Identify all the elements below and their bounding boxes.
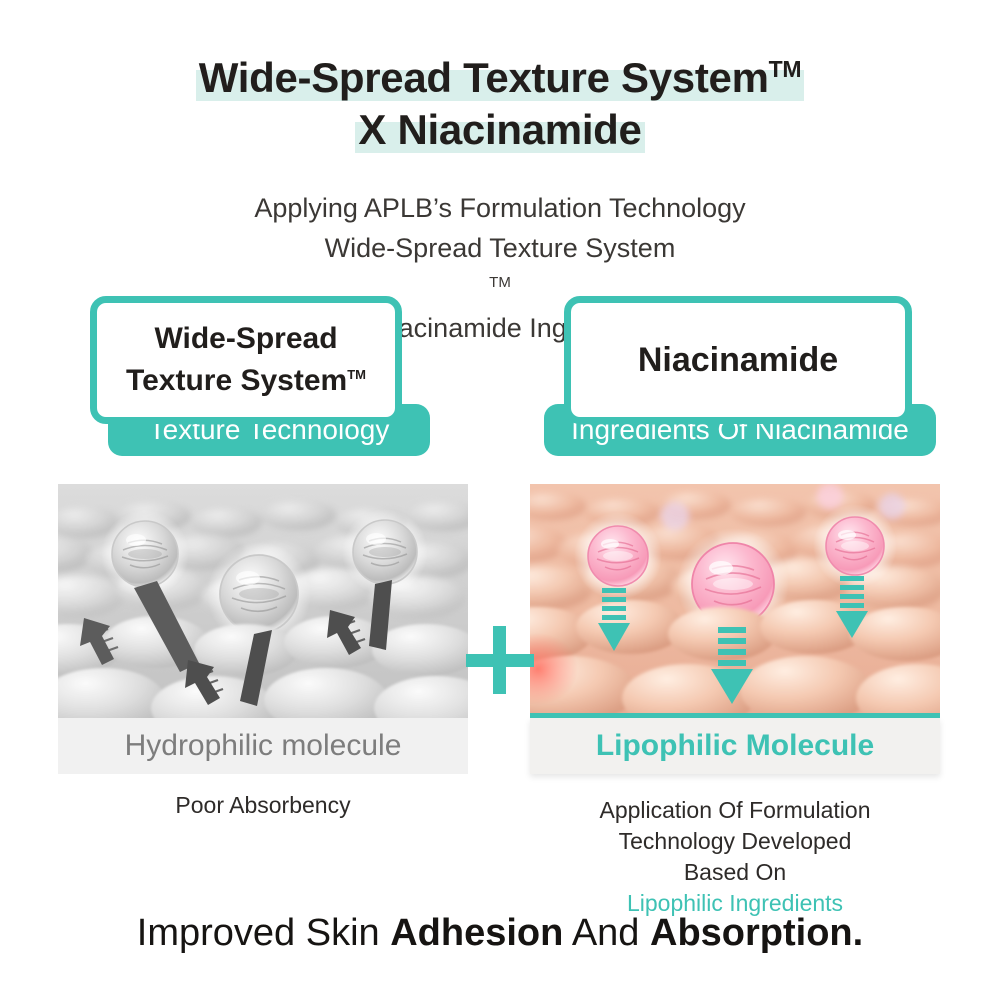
pink-skin-cells-scene xyxy=(530,484,940,718)
footer-part-2: And xyxy=(563,912,650,954)
panel-lipophilic: Lipophilic Molecule xyxy=(530,484,940,774)
lipophilic-sub-line-1: Application Of Formulation xyxy=(530,795,940,826)
title-line-1-text: Wide-Spread Texture System xyxy=(199,54,769,101)
trademark-symbol: TM xyxy=(347,367,366,382)
promo-infographic: Wide-Spread Texture SystemTM X Niacinami… xyxy=(0,0,1000,1000)
panel-hydrophilic: Hydrophilic molecule xyxy=(58,484,468,774)
lipophilic-sub-line-3-a: Based On xyxy=(530,857,940,888)
droplet-right xyxy=(813,504,897,588)
hydrophilic-caption: Hydrophilic molecule xyxy=(125,729,402,763)
formula-cards-row: Wide-Spread Texture SystemTM Texture Tec… xyxy=(0,296,1000,466)
hydrophilic-caption-bar: Hydrophilic molecule xyxy=(58,718,468,774)
title-line-2-text: X Niacinamide xyxy=(355,106,644,153)
footer-statement: Improved Skin Adhesion And Absorption. xyxy=(0,908,1000,958)
footer-part-1: Improved Skin xyxy=(137,912,390,954)
hydrophilic-sub-caption: Poor Absorbency xyxy=(58,790,468,821)
card-niacinamide-box: Niacinamide xyxy=(564,296,912,424)
footer-bold-adhesion: Adhesion xyxy=(390,912,563,954)
card-texture-system-box: Wide-Spread Texture SystemTM xyxy=(90,296,402,424)
trademark-symbol: TM xyxy=(769,56,802,82)
lipophilic-teal-underbar xyxy=(530,713,940,718)
card-left-line-2-text: Texture System xyxy=(126,364,347,397)
lipophilic-caption: Lipophilic Molecule xyxy=(596,729,874,763)
lipophilic-sub-line-2: Technology Developed xyxy=(530,826,940,857)
trademark-symbol: TM xyxy=(489,274,511,291)
card-left-line-2: Texture SystemTM xyxy=(126,360,366,402)
droplet-left xyxy=(574,512,662,600)
lipophilic-sub-caption: Application Of Formulation Technology De… xyxy=(530,795,940,919)
subtitle-line-1: Applying APLB’s Formulation Technology xyxy=(0,188,1000,228)
hydrophilic-illustration xyxy=(58,484,468,718)
lipophilic-caption-bar: Lipophilic Molecule xyxy=(530,718,940,774)
gray-skin-cells-scene xyxy=(58,484,468,718)
lipophilic-illustration xyxy=(530,484,940,718)
plus-icon xyxy=(466,626,534,694)
footer-bold-absorption: Absorption. xyxy=(650,912,863,954)
card-right-title: Niacinamide xyxy=(638,338,838,382)
title-line-2: X Niacinamide xyxy=(0,104,1000,156)
page-title: Wide-Spread Texture SystemTM X Niacinami… xyxy=(0,52,1000,156)
subtitle-line-2-a: Wide-Spread Texture System xyxy=(0,228,1000,268)
title-line-1: Wide-Spread Texture SystemTM xyxy=(0,52,1000,104)
card-left-line-1: Wide-Spread xyxy=(154,318,337,360)
